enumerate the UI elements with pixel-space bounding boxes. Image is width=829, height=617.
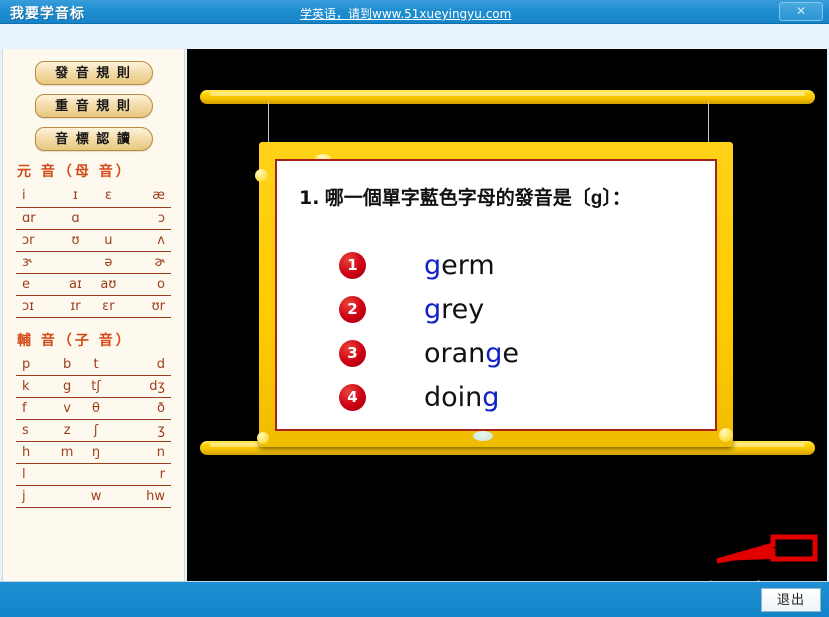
- red-arrow-icon: [711, 531, 821, 579]
- vowel-row: iɪɛæ: [16, 185, 171, 207]
- consonant-symbol[interactable]: ʃ: [83, 420, 109, 442]
- question-text: 1. 哪一個單字藍色字母的發音是〔g〕：: [299, 183, 631, 210]
- consonant-symbol[interactable]: r: [109, 464, 171, 486]
- consonant-symbol[interactable]: j: [16, 486, 51, 508]
- option-word: orange: [424, 338, 519, 369]
- highlighted-letter: g: [424, 250, 441, 281]
- consonant-row: jwhw: [16, 486, 171, 508]
- consonant-symbol[interactable]: v: [51, 398, 82, 420]
- question-body: 哪一個單字藍色字母的發音是〔g〕：: [325, 188, 631, 209]
- consonant-symbol[interactable]: f: [16, 398, 51, 420]
- consonant-symbol[interactable]: hw: [109, 486, 171, 508]
- vowel-section-heading: 元 音（母 音）: [17, 161, 184, 181]
- consonant-row: szʃʒ: [16, 420, 171, 442]
- vowel-symbol[interactable]: aɪ: [61, 273, 90, 295]
- top-rail-decoration: [200, 90, 815, 104]
- highlight-dot: [473, 431, 493, 441]
- vowel-row: ɔɪɪrɛrʊr: [16, 295, 171, 317]
- pronunciation-rules-button[interactable]: 發 音 規 則: [35, 61, 153, 85]
- stress-rules-button[interactable]: 重 音 規 則: [35, 94, 153, 118]
- highlighted-letter: g: [482, 382, 499, 413]
- options-list: 1germ2grey3orange4doing: [339, 243, 519, 419]
- consonant-symbol[interactable]: m: [51, 442, 82, 464]
- exit-button[interactable]: 退出: [761, 588, 821, 612]
- vowel-symbol[interactable]: ɪ: [61, 185, 90, 207]
- vowel-symbol[interactable]: ɪr: [61, 295, 90, 317]
- consonant-symbol[interactable]: n: [109, 442, 171, 464]
- vowel-table: iɪɛæɑrɑɔɔrʊuʌɝəɚeaɪaʊoɔɪɪrɛrʊr: [16, 185, 171, 318]
- consonant-symbol[interactable]: ʒ: [109, 420, 171, 442]
- consonant-symbol: [51, 486, 82, 508]
- title-bar: 我要学音标 学英语，请到www.51xueyingyu.com ✕: [0, 0, 829, 24]
- vowel-row: ɑrɑɔ: [16, 207, 171, 229]
- vowel-symbol[interactable]: ʊ: [61, 229, 90, 251]
- option-word: doing: [424, 382, 499, 413]
- consonant-symbol[interactable]: θ: [83, 398, 109, 420]
- consonant-symbol[interactable]: d: [109, 354, 171, 376]
- consonant-symbol[interactable]: tʃ: [83, 376, 109, 398]
- vowel-symbol[interactable]: ɝ: [16, 251, 61, 273]
- consonant-symbol[interactable]: p: [16, 354, 51, 376]
- highlight-dot: [719, 428, 733, 442]
- wire-decoration: [268, 101, 269, 145]
- vowel-symbol[interactable]: ɔr: [16, 229, 61, 251]
- consonant-row: fvθð: [16, 398, 171, 420]
- vowel-symbol[interactable]: ɑ: [61, 207, 90, 229]
- option-number-badge: 2: [339, 296, 366, 323]
- option-number-badge: 4: [339, 384, 366, 411]
- question-card: 1. 哪一個單字藍色字母的發音是〔g〕： 1germ2grey3orange4d…: [259, 142, 733, 447]
- slide-stage: 1. 哪一個單字藍色字母的發音是〔g〕： 1germ2grey3orange4d…: [187, 49, 827, 595]
- vowel-row: eaɪaʊo: [16, 273, 171, 295]
- consonant-symbol[interactable]: s: [16, 420, 51, 442]
- consonant-symbol[interactable]: l: [16, 464, 51, 486]
- vowel-symbol[interactable]: ə: [90, 251, 127, 273]
- vowel-symbol: [90, 207, 127, 229]
- option-number-badge: 1: [339, 252, 366, 279]
- vowel-row: ɝəɚ: [16, 251, 171, 273]
- vowel-symbol[interactable]: ɔɪ: [16, 295, 61, 317]
- application-window: 我要学音标 学英语，请到www.51xueyingyu.com ✕ 發 音 規 …: [0, 0, 829, 617]
- consonant-row: hmŋn: [16, 442, 171, 464]
- highlighted-letter: g: [485, 338, 502, 369]
- consonant-symbol[interactable]: w: [83, 486, 109, 508]
- sidebar: 發 音 規 則 重 音 規 則 音 標 認 讀 元 音（母 音） iɪɛæɑrɑ…: [2, 49, 185, 595]
- consonant-section-heading: 輔 音（子 音）: [17, 330, 184, 350]
- consonant-symbol: [51, 464, 82, 486]
- phonetic-reading-button[interactable]: 音 標 認 讀: [35, 127, 153, 151]
- answer-option[interactable]: 3orange: [339, 331, 519, 375]
- consonant-symbol[interactable]: t: [83, 354, 109, 376]
- vowel-row: ɔrʊuʌ: [16, 229, 171, 251]
- answer-option[interactable]: 4doing: [339, 375, 519, 419]
- consonant-table: pbtdkgtʃdʒfvθðszʃʒhmŋnlrjwhw: [16, 354, 171, 509]
- highlight-dot: [257, 432, 269, 444]
- body-area: 發 音 規 則 重 音 規 則 音 標 認 讀 元 音（母 音） iɪɛæɑrɑ…: [0, 24, 829, 581]
- consonant-symbol[interactable]: ŋ: [83, 442, 109, 464]
- consonant-row: lr: [16, 464, 171, 486]
- option-number-badge: 3: [339, 340, 366, 367]
- consonant-symbol[interactable]: h: [16, 442, 51, 464]
- vowel-symbol[interactable]: ɑr: [16, 207, 61, 229]
- vowel-symbol[interactable]: ɛr: [90, 295, 127, 317]
- highlight-dot: [255, 169, 268, 182]
- promo-link[interactable]: 学英语，请到www.51xueyingyu.com: [300, 5, 511, 22]
- vowel-symbol[interactable]: ʊr: [127, 295, 171, 317]
- window-title: 我要学音标: [10, 3, 85, 23]
- consonant-symbol[interactable]: z: [51, 420, 82, 442]
- answer-option[interactable]: 2grey: [339, 287, 519, 331]
- wire-decoration: [708, 101, 709, 145]
- vowel-symbol[interactable]: ʌ: [127, 229, 171, 251]
- consonant-symbol: [83, 464, 109, 486]
- close-icon[interactable]: ✕: [779, 2, 823, 21]
- consonant-row: kgtʃdʒ: [16, 376, 171, 398]
- question-number: 1.: [299, 187, 319, 209]
- consonant-row: pbtd: [16, 354, 171, 376]
- consonant-symbol[interactable]: dʒ: [109, 376, 171, 398]
- vowel-symbol[interactable]: æ: [127, 185, 171, 207]
- vowel-symbol[interactable]: ɚ: [127, 251, 171, 273]
- answer-option[interactable]: 1germ: [339, 243, 519, 287]
- consonant-symbol[interactable]: g: [51, 376, 82, 398]
- consonant-symbol[interactable]: b: [51, 354, 82, 376]
- vowel-symbol[interactable]: e: [16, 273, 61, 295]
- vowel-symbol[interactable]: i: [16, 185, 61, 207]
- vowel-symbol[interactable]: u: [90, 229, 127, 251]
- bottom-bar: 退出: [0, 581, 829, 617]
- vowel-symbol: [61, 251, 90, 273]
- consonant-symbol[interactable]: k: [16, 376, 51, 398]
- option-word: germ: [424, 250, 495, 281]
- question-card-inner: 1. 哪一個單字藍色字母的發音是〔g〕： 1germ2grey3orange4d…: [275, 159, 717, 431]
- highlighted-letter: g: [424, 294, 441, 325]
- vowel-symbol[interactable]: ɛ: [90, 185, 127, 207]
- option-word: grey: [424, 294, 484, 325]
- vowel-symbol[interactable]: ɔ: [127, 207, 171, 229]
- consonant-symbol[interactable]: ð: [109, 398, 171, 420]
- vowel-symbol[interactable]: o: [127, 273, 171, 295]
- vowel-symbol[interactable]: aʊ: [90, 273, 127, 295]
